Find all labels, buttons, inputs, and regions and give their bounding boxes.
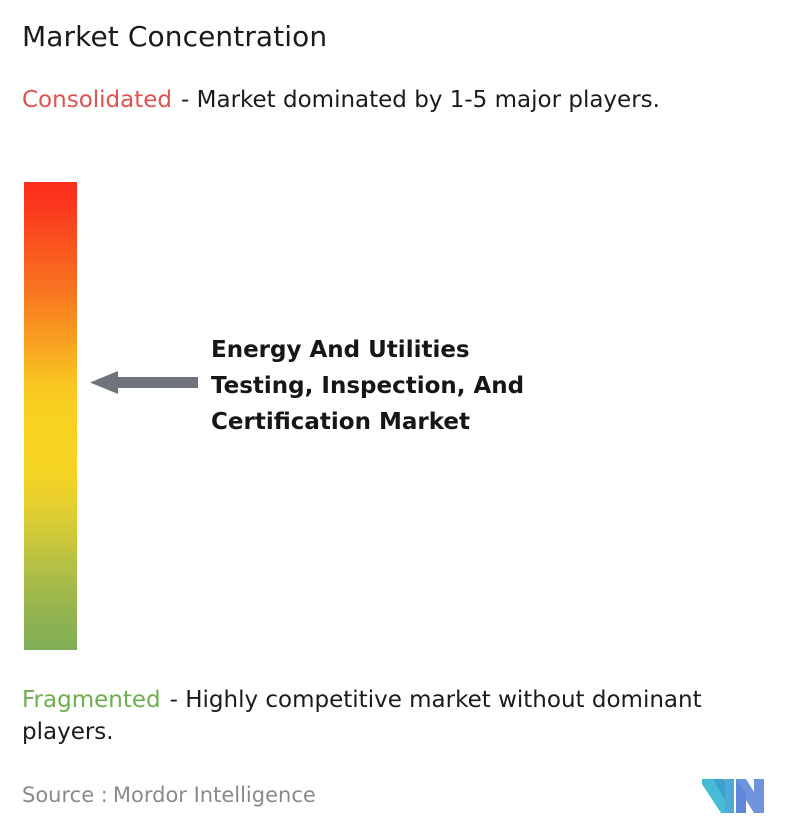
source-value: Mordor Intelligence [113,783,316,807]
consolidated-term: Consolidated [22,87,172,113]
page-title: Market Concentration [22,20,327,54]
market-name-label: Energy And Utilities Testing, Inspection… [211,332,641,440]
fragmented-term: Fragmented [22,687,161,713]
mordor-intelligence-logo [702,775,764,813]
market-concentration-chart: Market Concentration Consolidated- Marke… [0,0,796,834]
fragmented-caption: Fragmented- Highly competitive market wi… [22,684,788,748]
source-label: Source : [22,783,108,807]
consolidated-caption: Consolidated- Market dominated by 1-5 ma… [22,84,774,116]
concentration-gradient-bar [24,182,77,650]
market-position-arrow-icon [90,370,198,395]
market-name-line-2: Testing, Inspection, And [211,368,641,404]
market-name-line-3: Certification Market [211,404,641,440]
market-name-line-1: Energy And Utilities [211,332,641,368]
source-attribution: Source :Mordor Intelligence [22,782,316,808]
consolidated-description: - Market dominated by 1-5 major players. [181,87,660,113]
